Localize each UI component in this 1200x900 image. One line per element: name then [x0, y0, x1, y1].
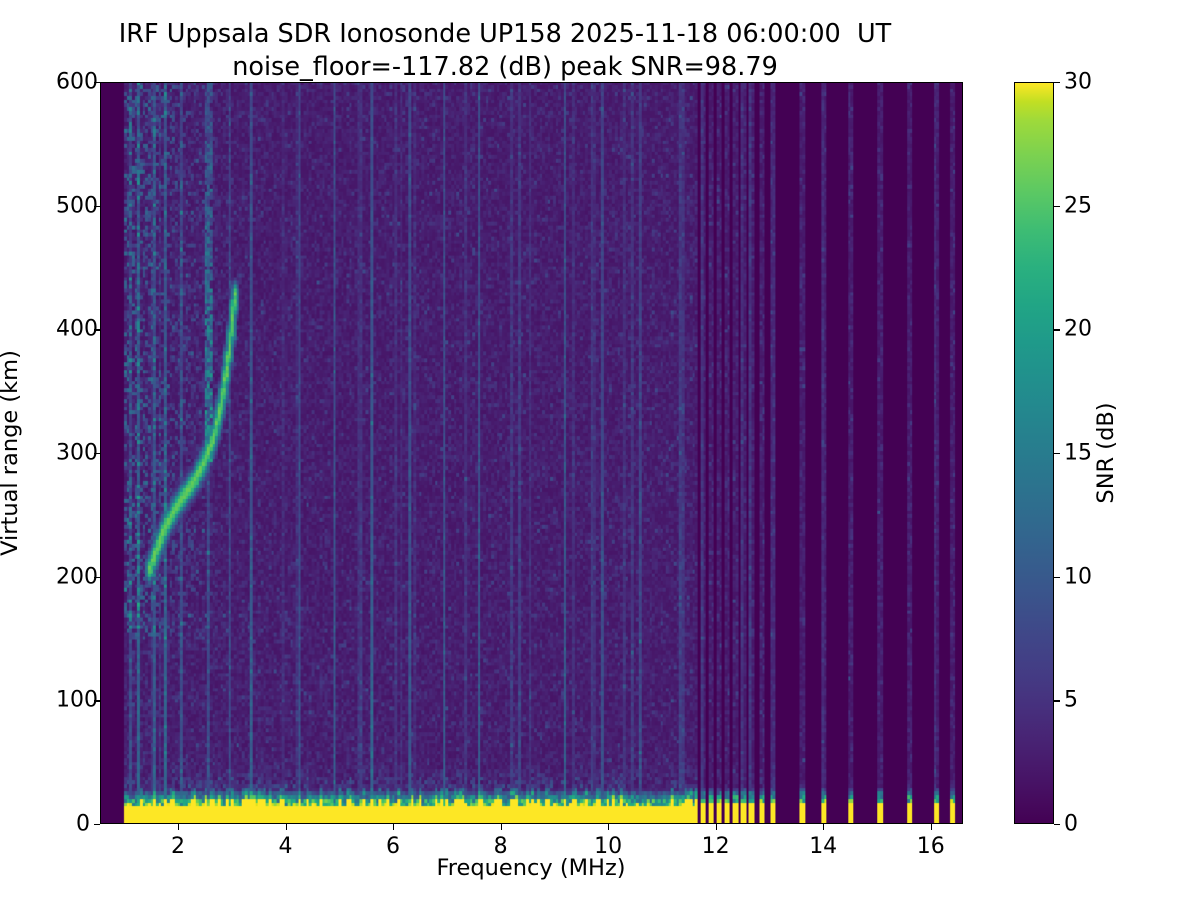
colorbar-tick-label: 5	[1064, 688, 1078, 713]
x-tick-mark	[393, 824, 394, 830]
colorbar-tick-mark	[1054, 453, 1060, 454]
colorbar-gradient	[1014, 82, 1054, 824]
title-line-1: IRF Uppsala SDR Ionosonde UP158 2025-11-…	[0, 18, 1010, 51]
colorbar-tick-mark	[1054, 577, 1060, 578]
colorbar-tick-mark	[1054, 824, 1060, 825]
y-tick-label: 600	[56, 70, 90, 95]
colorbar-tick-mark	[1054, 82, 1060, 83]
ionogram-heatmap-canvas	[101, 83, 962, 823]
colorbar-tick-label: 25	[1064, 193, 1092, 218]
colorbar-tick-label: 10	[1064, 564, 1092, 589]
ionogram-figure: IRF Uppsala SDR Ionosonde UP158 2025-11-…	[0, 0, 1200, 900]
x-tick-mark	[501, 824, 502, 830]
y-axis-label: Virtual range (km)	[0, 350, 23, 556]
x-tick-label: 12	[702, 834, 730, 859]
x-tick-mark	[716, 824, 717, 830]
ionogram-plot-area[interactable]	[100, 82, 963, 824]
x-tick-mark	[178, 824, 179, 830]
x-tick-mark	[608, 824, 609, 830]
x-axis-label: Frequency (MHz)	[436, 855, 625, 881]
colorbar-tick-label: 30	[1064, 70, 1092, 95]
x-tick-label: 6	[386, 834, 400, 859]
y-tick-label: 100	[56, 688, 90, 713]
colorbar-tick-label: 15	[1064, 441, 1092, 466]
y-tick-mark	[94, 824, 100, 825]
x-tick-label: 16	[917, 834, 945, 859]
x-tick-label: 14	[809, 834, 837, 859]
y-tick-label: 500	[56, 193, 90, 218]
colorbar-tick-label: 0	[1064, 812, 1078, 837]
colorbar-tick-label: 20	[1064, 317, 1092, 342]
figure-title: IRF Uppsala SDR Ionosonde UP158 2025-11-…	[0, 18, 1010, 84]
colorbar[interactable]	[1014, 82, 1054, 824]
colorbar-label: SNR (dB)	[1093, 402, 1119, 503]
y-tick-label: 200	[56, 564, 90, 589]
title-line-2: noise_floor=-117.82 (dB) peak SNR=98.79	[0, 51, 1010, 84]
y-tick-label: 0	[56, 812, 90, 837]
x-tick-label: 4	[279, 834, 293, 859]
x-tick-mark	[286, 824, 287, 830]
colorbar-tick-mark	[1054, 206, 1060, 207]
colorbar-tick-mark	[1054, 700, 1060, 701]
y-tick-label: 300	[56, 441, 90, 466]
x-tick-label: 2	[171, 834, 185, 859]
colorbar-tick-mark	[1054, 329, 1060, 330]
x-tick-mark	[931, 824, 932, 830]
y-tick-label: 400	[56, 317, 90, 342]
x-tick-mark	[823, 824, 824, 830]
